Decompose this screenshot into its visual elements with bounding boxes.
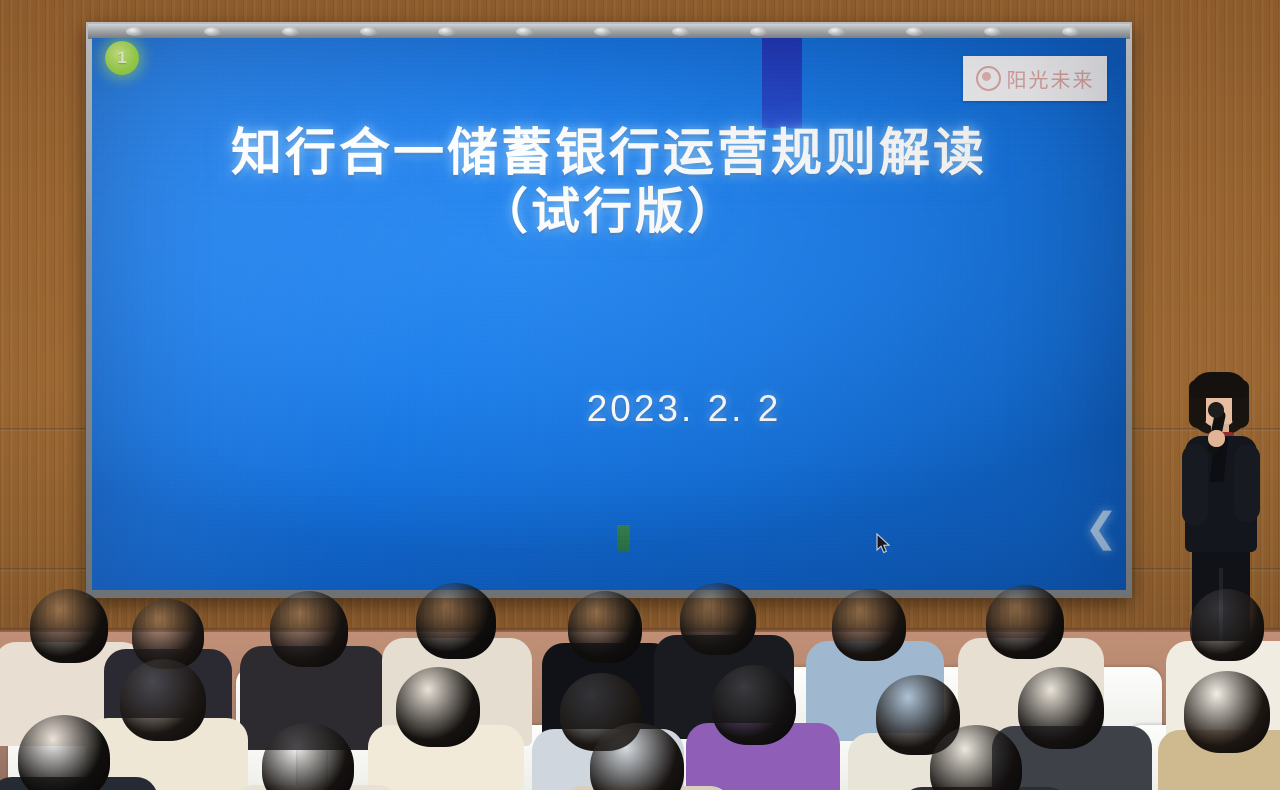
projection-screen[interactable]: 1 阳光未来 知行合一储蓄银行运营规则解读 （试行版） 2023. 2. 2 ❮	[92, 38, 1126, 590]
presenter-hair-front	[1190, 372, 1248, 398]
bezel-bolt	[594, 27, 612, 36]
audience-member-head	[1190, 589, 1264, 661]
audience-seating: 国际小学国际小学	[0, 575, 1280, 790]
audience-member-head	[270, 591, 348, 667]
presentation-scene: 1 阳光未来 知行合一储蓄银行运营规则解读 （试行版） 2023. 2. 2 ❮	[0, 0, 1280, 790]
audience-member-head	[30, 589, 108, 663]
bezel-bolt	[828, 27, 846, 36]
audience-member-head	[832, 589, 906, 661]
audience-member-head	[416, 583, 496, 659]
presenter-arm-right	[1234, 444, 1260, 522]
audience-member-head	[120, 659, 206, 741]
presenter-hand	[1208, 430, 1225, 447]
bezel-bolt	[282, 27, 300, 36]
audience-member-head	[986, 585, 1064, 659]
audience-member-head	[1184, 671, 1270, 753]
bezel-bolt	[750, 27, 768, 36]
presenter-arm-left	[1182, 444, 1208, 526]
bezel-bolt	[672, 27, 690, 36]
audience-member-head	[568, 591, 642, 663]
bezel-bolt	[1062, 27, 1080, 36]
bezel-bolt	[438, 27, 456, 36]
audience-member-head	[396, 667, 480, 747]
bezel-bolt	[516, 27, 534, 36]
bezel-bolt	[204, 27, 222, 36]
bezel-bolt	[906, 27, 924, 36]
bezel-bolt	[360, 27, 378, 36]
audience-member-head	[680, 583, 756, 655]
bezel-bolt	[126, 27, 144, 36]
bezel-bolt	[984, 27, 1002, 36]
microphone-head-icon	[1208, 402, 1224, 418]
bezel-bolts	[88, 26, 1130, 37]
audience-member-head	[1018, 667, 1104, 749]
audience-member-head	[712, 665, 796, 745]
screen-vignette-overlay	[92, 38, 1126, 590]
